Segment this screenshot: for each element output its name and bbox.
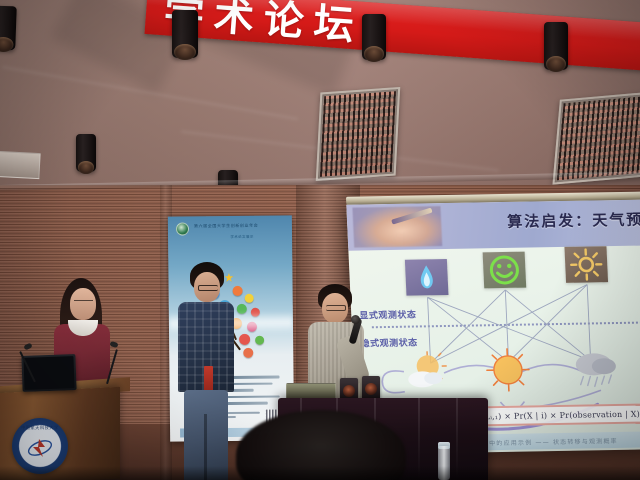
smiley-face-icon <box>483 252 527 289</box>
state-divider-dotted <box>372 322 640 329</box>
poster-emblem-icon <box>176 222 189 235</box>
sunny-glyph <box>481 345 535 394</box>
ceiling-spotlight <box>362 14 386 60</box>
slide-header-band: 算法启发：天气预 <box>346 200 640 251</box>
tree-leaf-icon <box>255 336 264 345</box>
crest-ring-text: 中国航天科技大学 <box>21 425 59 431</box>
smiley-glyph <box>483 252 527 289</box>
partly-cloudy-icon <box>403 349 451 390</box>
crest-swoosh-icon <box>26 436 54 460</box>
ceiling-grille-light <box>316 87 400 181</box>
partly-cloudy-glyph <box>403 349 451 390</box>
ceiling-spotlight <box>544 22 568 70</box>
ceiling-spotlight <box>0 6 17 51</box>
microphone-grille-icon <box>351 315 360 324</box>
ceiling-spotlight <box>76 134 96 172</box>
sun-glyph <box>564 246 608 283</box>
ceiling-grille-light <box>552 91 640 184</box>
presenter-glasses-icon <box>74 300 93 305</box>
foreground-shadow <box>0 466 640 480</box>
slide-title: 算法启发：天气预 <box>507 209 640 232</box>
ceiling-spotlight <box>172 10 198 58</box>
sun-icon <box>564 246 608 283</box>
wall-vent <box>0 151 41 179</box>
rainy-cloud-icon <box>569 348 621 393</box>
speaker-glasses-icon <box>326 305 346 311</box>
student-glasses-icon <box>198 285 218 291</box>
sunny-icon <box>481 345 535 394</box>
rainy-cloud-glyph <box>569 348 621 393</box>
poster-title: 第六届全国大学生创新创业年会 <box>194 222 286 229</box>
poster-subtitle: 学术论文展示 <box>212 235 272 241</box>
flame-glyph <box>405 259 449 296</box>
flame-icon <box>405 259 449 296</box>
photo-scene: 学术论坛 第六届全国大学生创新创业年会 学术论文展示 <box>0 0 640 480</box>
